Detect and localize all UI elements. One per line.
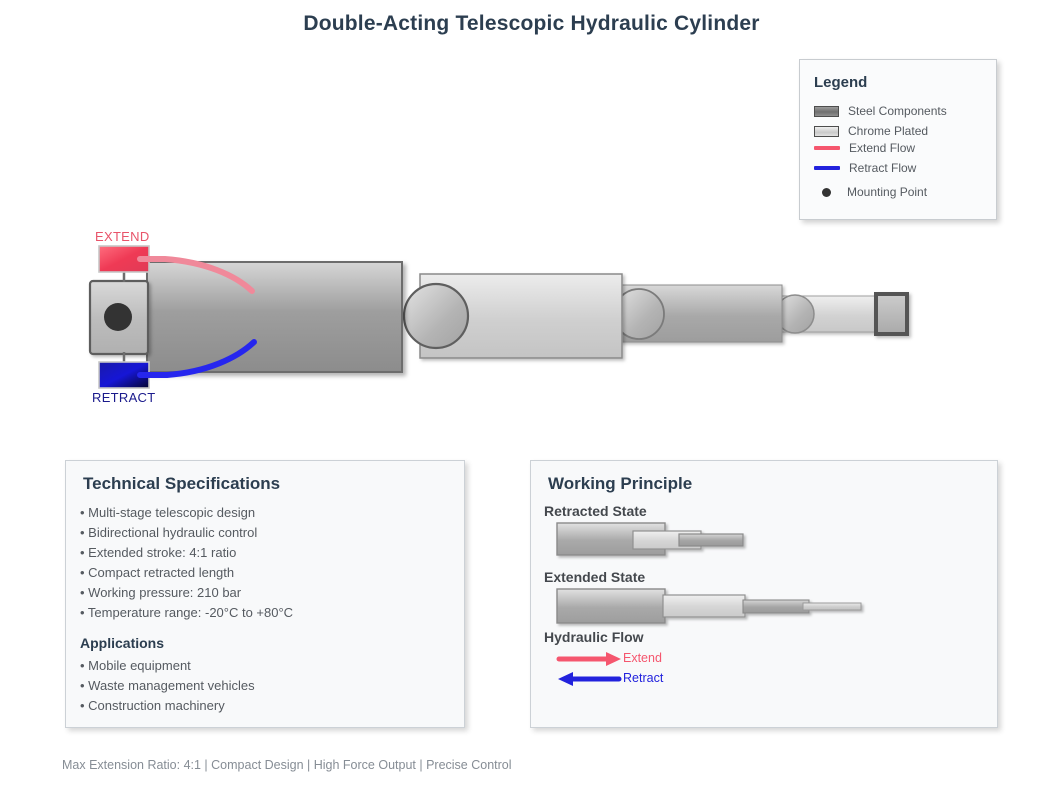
diagram-page: Double-Acting Telescopic Hydraulic Cylin… (0, 0, 1063, 795)
chrome-swatch-icon (814, 126, 839, 137)
rod-eye (876, 294, 907, 334)
stage-2 (620, 285, 782, 342)
legend-panel: Legend Steel Components Chrome Plated Ex… (799, 59, 997, 220)
working-principle-panel: Working Principle Retracted State Extend… (530, 460, 998, 728)
flow-retract-text: Retract (623, 671, 663, 685)
extend-flow-arc (140, 259, 252, 291)
stage-2-seal-head (614, 289, 664, 339)
stage-1-seal-head (404, 284, 468, 348)
applications-title: Applications (80, 635, 164, 651)
steel-swatch-icon (814, 106, 839, 117)
legend-item-chrome: Chrome Plated (814, 123, 928, 139)
legend-label-mounting: Mounting Point (847, 185, 927, 199)
applications-list: • Mobile equipment • Waste management ve… (80, 656, 255, 716)
mounting-base (90, 281, 148, 354)
stage-1 (420, 274, 622, 358)
extend-port-label: EXTEND (95, 229, 150, 244)
specs-panel-title: Technical Specifications (83, 474, 280, 494)
principle-illustrations (531, 461, 999, 729)
spec-item: • Compact retracted length (80, 563, 293, 583)
specs-list: • Multi-stage telescopic design • Bidire… (80, 503, 293, 623)
cylinder-barrel (147, 262, 402, 372)
mounting-dot-icon (822, 188, 831, 197)
legend-item-mounting: Mounting Point (814, 184, 927, 200)
legend-label-extend: Extend Flow (849, 141, 915, 155)
spec-item: • Multi-stage telescopic design (80, 503, 293, 523)
extended-state-illustration (557, 589, 861, 623)
extend-port-block (99, 246, 149, 272)
retract-line-icon (814, 166, 840, 170)
retracted-state-illustration (557, 523, 743, 555)
stage-3-seal-head (776, 295, 814, 333)
application-item: • Construction machinery (80, 696, 255, 716)
spec-item: • Extended stroke: 4:1 ratio (80, 543, 293, 563)
retract-port-block (99, 362, 149, 388)
legend-item-steel: Steel Components (814, 103, 947, 119)
extend-flow-arrow (559, 652, 621, 666)
retract-flow-arrow (558, 672, 619, 686)
application-item: • Waste management vehicles (80, 676, 255, 696)
page-title: Double-Acting Telescopic Hydraulic Cylin… (0, 12, 1063, 36)
mounting-point-icon (104, 303, 132, 331)
retract-port-label: RETRACT (92, 390, 156, 405)
legend-title: Legend (814, 74, 867, 91)
footer-note: Max Extension Ratio: 4:1 | Compact Desig… (62, 758, 512, 772)
legend-item-extend: Extend Flow (814, 140, 915, 156)
legend-label-steel: Steel Components (848, 104, 947, 118)
retract-flow-arc (140, 342, 254, 375)
spec-item: • Working pressure: 210 bar (80, 583, 293, 603)
flow-extend-text: Extend (623, 651, 662, 665)
spec-item: • Bidirectional hydraulic control (80, 523, 293, 543)
legend-label-retract: Retract Flow (849, 161, 916, 175)
spec-item: • Temperature range: -20°C to +80°C (80, 603, 293, 623)
legend-item-retract: Retract Flow (814, 160, 916, 176)
stage-3 (780, 296, 878, 332)
application-item: • Mobile equipment (80, 656, 255, 676)
extend-line-icon (814, 146, 840, 150)
legend-label-chrome: Chrome Plated (848, 124, 928, 138)
technical-specifications-panel: Technical Specifications • Multi-stage t… (65, 460, 465, 728)
